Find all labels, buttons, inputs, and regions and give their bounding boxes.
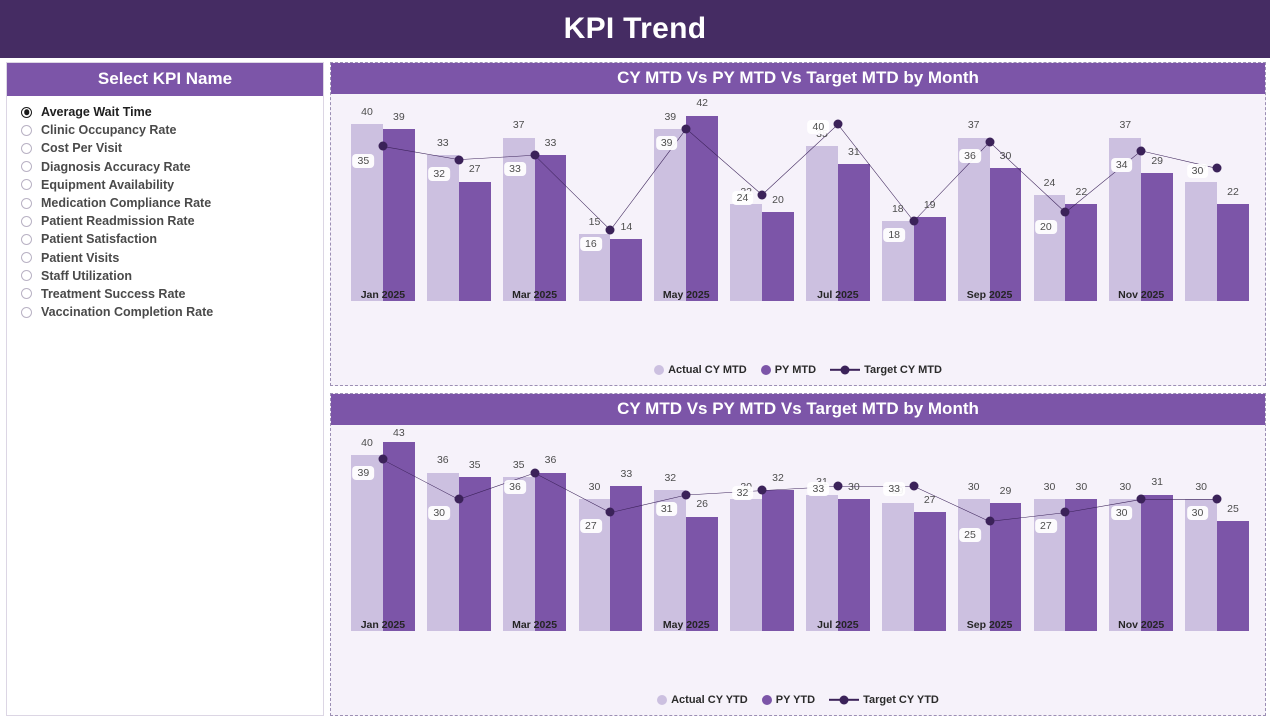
slicer-item-vaccination-completion-rate[interactable]: Vaccination Completion Rate xyxy=(21,303,323,321)
target-line-marker[interactable] xyxy=(378,142,387,151)
legend-item[interactable]: Actual CY YTD xyxy=(657,694,748,706)
slicer-item-label: Cost Per Visit xyxy=(41,141,122,155)
legend-swatch-icon xyxy=(762,695,772,705)
chart-title-ytd: CY MTD Vs PY MTD Vs Target MTD by Month xyxy=(331,394,1265,425)
target-line-marker[interactable] xyxy=(1137,494,1146,503)
target-line-marker[interactable] xyxy=(606,508,615,517)
legend-label: PY YTD xyxy=(776,694,815,706)
page-header: KPI Trend xyxy=(0,0,1270,58)
slicer-item-label: Equipment Availability xyxy=(41,178,174,192)
plot-area-mtd[interactable]: Jan 2025Mar 2025May 2025Jul 2025Sep 2025… xyxy=(331,94,1265,359)
slicer-item-average-wait-time[interactable]: Average Wait Time xyxy=(21,103,323,121)
slicer-item-label: Diagnosis Accuracy Rate xyxy=(41,160,191,174)
radio-button-icon[interactable] xyxy=(21,216,32,227)
slicer-item-clinic-occupancy-rate[interactable]: Clinic Occupancy Rate xyxy=(21,121,323,139)
chart-legend-ytd: Actual CY YTDPY YTDTarget CY YTD xyxy=(331,689,1265,715)
target-line-marker[interactable] xyxy=(378,455,387,464)
target-line-marker[interactable] xyxy=(833,481,842,490)
radio-button-icon[interactable] xyxy=(21,288,32,299)
slicer-item-treatment-success-rate[interactable]: Treatment Success Rate xyxy=(21,285,323,303)
legend-line-marker-icon xyxy=(829,695,859,705)
slicer-title: Select KPI Name xyxy=(7,63,323,96)
slicer-option-list[interactable]: Average Wait TimeClinic Occupancy RateCo… xyxy=(7,96,323,715)
target-line-marker[interactable] xyxy=(682,490,691,499)
target-line-series xyxy=(345,98,1255,301)
radio-button-icon[interactable] xyxy=(21,198,32,209)
slicer-item-patient-readmission-rate[interactable]: Patient Readmission Rate xyxy=(21,212,323,230)
target-line-marker[interactable] xyxy=(833,120,842,129)
target-line-marker[interactable] xyxy=(758,486,767,495)
target-line-path xyxy=(383,124,1217,230)
plot-canvas-ytd: Jan 2025Mar 2025May 2025Jul 2025Sep 2025… xyxy=(345,429,1255,654)
slicer-item-label: Staff Utilization xyxy=(41,269,132,283)
legend-label: Target CY MTD xyxy=(864,364,942,376)
radio-button-icon[interactable] xyxy=(21,125,32,136)
slicer-item-label: Medication Compliance Rate xyxy=(41,196,211,210)
radio-button-icon[interactable] xyxy=(21,143,32,154)
legend-label: Actual CY MTD xyxy=(668,364,747,376)
chart-title-mtd: CY MTD Vs PY MTD Vs Target MTD by Month xyxy=(331,63,1265,94)
page-title: KPI Trend xyxy=(564,12,707,46)
target-line-marker[interactable] xyxy=(530,468,539,477)
chart-card-mtd: CY MTD Vs PY MTD Vs Target MTD by Month … xyxy=(330,62,1266,386)
slicer-item-label: Patient Satisfaction xyxy=(41,232,157,246)
target-line-marker[interactable] xyxy=(454,155,463,164)
workspace: Select KPI Name Average Wait TimeClinic … xyxy=(0,58,1270,720)
slicer-item-patient-satisfaction[interactable]: Patient Satisfaction xyxy=(21,230,323,248)
slicer-item-medication-compliance-rate[interactable]: Medication Compliance Rate xyxy=(21,194,323,212)
legend-line-marker-icon xyxy=(830,365,860,375)
kpi-slicer-panel: Select KPI Name Average Wait TimeClinic … xyxy=(6,62,324,716)
radio-button-icon[interactable] xyxy=(21,234,32,245)
legend-label: PY MTD xyxy=(775,364,816,376)
slicer-item-label: Treatment Success Rate xyxy=(41,287,186,301)
legend-item[interactable]: Actual CY MTD xyxy=(654,364,747,376)
target-line-marker[interactable] xyxy=(909,481,918,490)
radio-button-icon[interactable] xyxy=(21,179,32,190)
slicer-item-patient-visits[interactable]: Patient Visits xyxy=(21,249,323,267)
target-line-path xyxy=(383,459,1217,521)
plot-area-ytd[interactable]: Jan 2025Mar 2025May 2025Jul 2025Sep 2025… xyxy=(331,425,1265,690)
radio-button-icon[interactable] xyxy=(21,252,32,263)
target-line-marker[interactable] xyxy=(682,124,691,133)
target-line-marker[interactable] xyxy=(1137,146,1146,155)
target-line-marker[interactable] xyxy=(1061,508,1070,517)
slicer-item-label: Patient Visits xyxy=(41,251,119,265)
radio-button-icon[interactable] xyxy=(21,161,32,172)
target-line-marker[interactable] xyxy=(1213,494,1222,503)
target-line-marker[interactable] xyxy=(1213,164,1222,173)
charts-column: CY MTD Vs PY MTD Vs Target MTD by Month … xyxy=(330,62,1266,716)
slicer-item-staff-utilization[interactable]: Staff Utilization xyxy=(21,267,323,285)
target-line-series xyxy=(345,429,1255,632)
plot-canvas-mtd: Jan 2025Mar 2025May 2025Jul 2025Sep 2025… xyxy=(345,98,1255,323)
radio-button-icon[interactable] xyxy=(21,270,32,281)
legend-label: Target CY YTD xyxy=(863,694,939,706)
legend-item[interactable]: PY MTD xyxy=(761,364,816,376)
chart-card-ytd: CY MTD Vs PY MTD Vs Target MTD by Month … xyxy=(330,393,1266,717)
slicer-item-label: Patient Readmission Rate xyxy=(41,214,195,228)
legend-item[interactable]: Target CY MTD xyxy=(830,364,942,376)
chart-legend-mtd: Actual CY MTDPY MTDTarget CY MTD xyxy=(331,359,1265,385)
target-line-marker[interactable] xyxy=(454,494,463,503)
target-line-marker[interactable] xyxy=(1061,208,1070,217)
legend-item[interactable]: Target CY YTD xyxy=(829,694,939,706)
slicer-item-label: Clinic Occupancy Rate xyxy=(41,123,176,137)
target-line-marker[interactable] xyxy=(758,190,767,199)
radio-button-icon[interactable] xyxy=(21,307,32,318)
legend-item[interactable]: PY YTD xyxy=(762,694,815,706)
radio-button-icon[interactable] xyxy=(21,107,32,118)
target-line-marker[interactable] xyxy=(530,151,539,160)
target-line-marker[interactable] xyxy=(606,226,615,235)
slicer-item-diagnosis-accuracy-rate[interactable]: Diagnosis Accuracy Rate xyxy=(21,158,323,176)
legend-swatch-icon xyxy=(761,365,771,375)
legend-label: Actual CY YTD xyxy=(671,694,748,706)
slicer-item-equipment-availability[interactable]: Equipment Availability xyxy=(21,176,323,194)
legend-swatch-icon xyxy=(657,695,667,705)
slicer-item-label: Vaccination Completion Rate xyxy=(41,305,213,319)
target-line-marker[interactable] xyxy=(985,138,994,147)
slicer-item-label: Average Wait Time xyxy=(41,105,152,119)
legend-swatch-icon xyxy=(654,365,664,375)
target-line-marker[interactable] xyxy=(909,217,918,226)
target-line-marker[interactable] xyxy=(985,516,994,525)
slicer-item-cost-per-visit[interactable]: Cost Per Visit xyxy=(21,139,323,157)
